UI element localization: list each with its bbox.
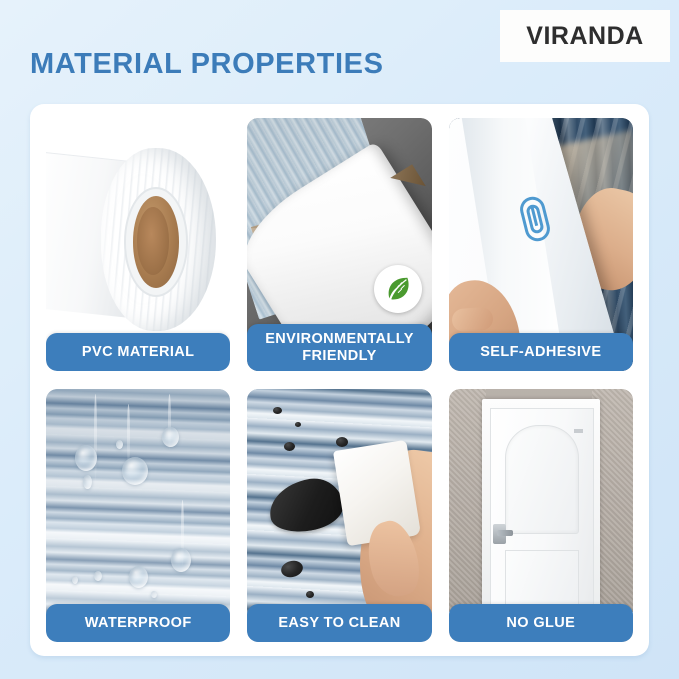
feature-tile-self-adhesive[interactable]: SELF-ADHESIVE bbox=[449, 118, 633, 371]
feature-tile-pvc-material[interactable]: PVC MATERIAL bbox=[46, 118, 230, 371]
feature-grid: PVC MATERIAL ENVIRONME bbox=[46, 118, 633, 642]
leaf-icon bbox=[374, 265, 422, 313]
feature-label-waterproof: WATERPROOF bbox=[46, 604, 230, 642]
feature-label-self-adhesive: SELF-ADHESIVE bbox=[449, 333, 633, 371]
page-title: MATERIAL PROPERTIES bbox=[30, 48, 384, 81]
feature-card: PVC MATERIAL ENVIRONME bbox=[30, 104, 649, 656]
feature-tile-no-glue[interactable]: NO GLUE bbox=[449, 389, 633, 642]
feature-label-easy-to-clean: EASY TO CLEAN bbox=[247, 604, 431, 642]
feature-tile-easy-to-clean[interactable]: EASY TO CLEAN bbox=[247, 389, 431, 642]
feature-tile-waterproof[interactable]: WATERPROOF bbox=[46, 389, 230, 642]
feature-label-pvc-material: PVC MATERIAL bbox=[46, 333, 230, 371]
brand-logo: VIRANDA bbox=[500, 10, 670, 62]
feature-label-environmentally-friendly: ENVIRONMENTALLY FRIENDLY bbox=[247, 324, 431, 371]
brand-name: VIRANDA bbox=[526, 22, 643, 51]
feature-tile-environmentally-friendly[interactable]: ENVIRONMENTALLY FRIENDLY bbox=[247, 118, 431, 371]
feature-label-no-glue: NO GLUE bbox=[449, 604, 633, 642]
